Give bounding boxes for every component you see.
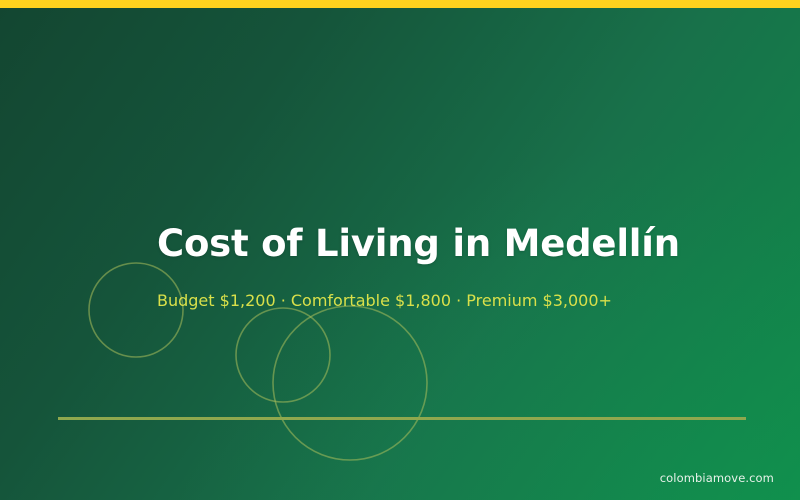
- slide-subtitle: Budget $1,200 · Comfortable $1,800 · Pre…: [157, 290, 612, 312]
- top-accent-bar: [0, 0, 800, 8]
- slide-content: Cost of Living in Medellín Budget $1,200…: [0, 0, 800, 500]
- slide-title: Cost of Living in Medellín: [157, 222, 680, 266]
- footer-website: colombiamove.com: [660, 470, 774, 486]
- presentation-slide: Cost of Living in Medellín Budget $1,200…: [0, 0, 800, 500]
